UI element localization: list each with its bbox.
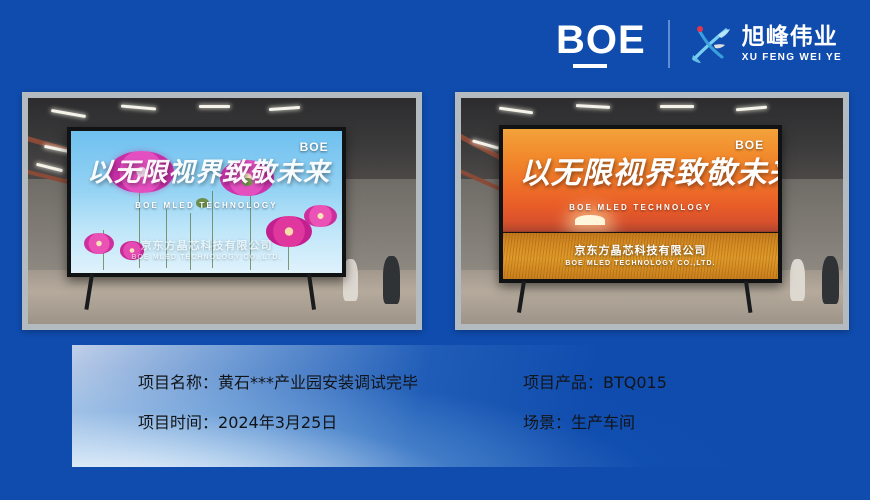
- person-figure: [790, 259, 805, 301]
- info-project-time-value: 2024年3月25日: [218, 413, 337, 432]
- led-wall-screen-right: BOE 以无限视界致敬未来 BOE MLED TECHNOLOGY 京东方晶芯科…: [499, 125, 782, 283]
- boe-logo-text: BOE: [556, 20, 646, 60]
- info-scene-label: 场景：: [523, 413, 571, 432]
- screen-subtitle: BOE MLED TECHNOLOGY: [503, 203, 778, 212]
- info-scene: 场景：生产车间: [523, 409, 798, 433]
- screen-company-cn: 京东方晶芯科技有限公司: [503, 242, 778, 258]
- logo-group: BOE 旭峰伟业 XU FENG WEI YE: [556, 20, 842, 68]
- led-wall-screen-left: BOE 以无限视界致敬未来 BOE MLED TECHNOLOGY 京东方晶芯科…: [67, 127, 346, 276]
- photo-left-image: BOE 以无限视界致敬未来 BOE MLED TECHNOLOGY 京东方晶芯科…: [28, 98, 416, 324]
- screen-boe-logo: BOE: [300, 140, 329, 154]
- partner-name-cn: 旭峰伟业: [742, 25, 842, 50]
- person-figure: [822, 256, 839, 304]
- screen-content-sunset: BOE 以无限视界致敬未来 BOE MLED TECHNOLOGY 京东方晶芯科…: [503, 129, 778, 279]
- info-project-name-label: 项目名称：: [138, 373, 218, 392]
- info-panel: 项目名称：黄石***产业园安装调试完毕 项目产品：BTQ015 项目时间：202…: [72, 345, 798, 467]
- photo-left-led-wall-flowers: BOE 以无限视界致敬未来 BOE MLED TECHNOLOGY 京东方晶芯科…: [22, 92, 422, 330]
- info-project-time-label: 项目时间：: [138, 413, 218, 432]
- info-project-time: 项目时间：2024年3月25日: [138, 409, 523, 433]
- info-project-product-label: 项目产品：: [523, 373, 603, 392]
- logo-divider: [668, 20, 670, 68]
- photo-right-led-wall-sunset: BOE 以无限视界致敬未来 BOE MLED TECHNOLOGY 京东方晶芯科…: [455, 92, 849, 330]
- screen-company-cn: 京东方晶芯科技有限公司: [71, 237, 342, 253]
- screen-company-en: BOE MLED TECHNOLOGY CO.,LTD.: [503, 260, 778, 267]
- screen-subtitle: BOE MLED TECHNOLOGY: [71, 201, 342, 210]
- sun-glow: [575, 215, 605, 226]
- screen-slogan: 以无限视界致敬未来: [520, 159, 762, 189]
- person-figure: [383, 256, 400, 304]
- info-project-product: 项目产品：BTQ015: [523, 369, 798, 393]
- partner-name-en: XU FENG WEI YE: [742, 52, 842, 63]
- boe-logo: BOE: [556, 20, 668, 68]
- info-project-name: 项目名称：黄石***产业园安装调试完毕: [138, 369, 523, 393]
- screen-slogan: 以无限视界致敬未来: [87, 160, 326, 186]
- xu-feng-wei-ye-x-mark-icon: [688, 21, 734, 67]
- partner-logo: 旭峰伟业 XU FENG WEI YE: [670, 21, 842, 67]
- header-bar: BOE 旭峰伟业 XU FENG WEI YE: [0, 0, 870, 88]
- screen-company-en: BOE MLED TECHNOLOGY CO.,LTD.: [71, 254, 342, 261]
- partner-logo-text: 旭峰伟业 XU FENG WEI YE: [742, 25, 842, 63]
- info-grid: 项目名称：黄石***产业园安装调试完毕 项目产品：BTQ015 项目时间：202…: [72, 345, 798, 467]
- info-project-name-value: 黄石***产业园安装调试完毕: [218, 373, 418, 392]
- ceiling-lamp: [199, 105, 230, 108]
- screen-content-flowers: BOE 以无限视界致敬未来 BOE MLED TECHNOLOGY 京东方晶芯科…: [71, 131, 342, 272]
- ceiling-lamp: [660, 105, 694, 108]
- photo-right-image: BOE 以无限视界致敬未来 BOE MLED TECHNOLOGY 京东方晶芯科…: [461, 98, 843, 324]
- boe-logo-underbar: [573, 64, 607, 68]
- info-project-product-value: BTQ015: [603, 373, 667, 392]
- screen-boe-logo: BOE: [735, 138, 764, 152]
- info-scene-value: 生产车间: [571, 413, 635, 432]
